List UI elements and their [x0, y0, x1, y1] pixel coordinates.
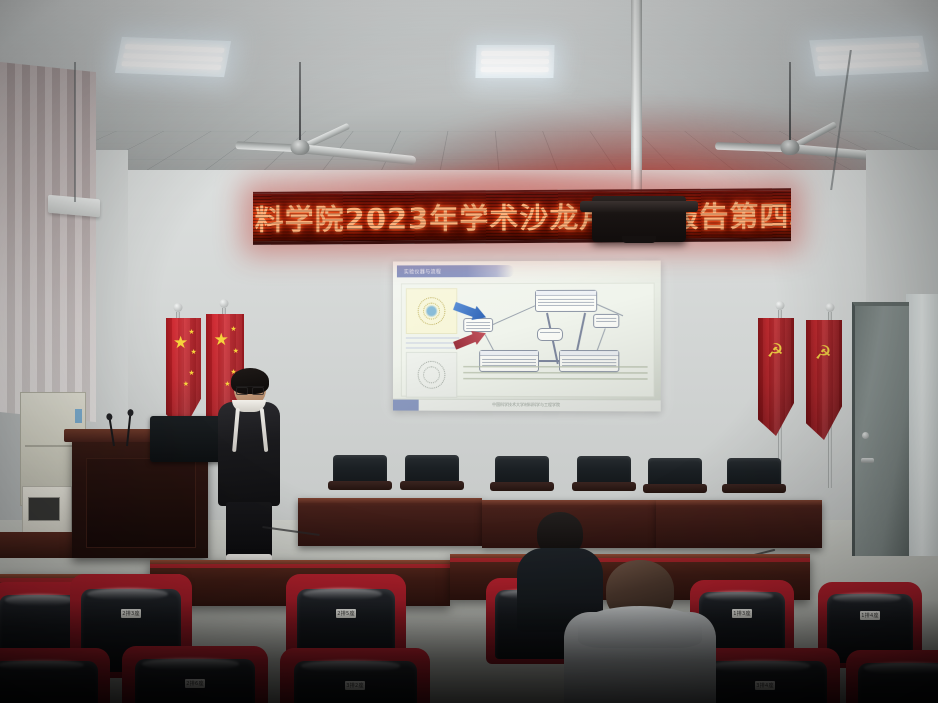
radial-diagram-yellow — [406, 288, 457, 334]
white-appliance — [22, 486, 72, 536]
fan-rod — [789, 62, 791, 142]
podium-monitor — [150, 416, 226, 462]
flag-star-small: ★ — [188, 370, 194, 377]
flag-star-small: ★ — [191, 349, 197, 356]
glasses-icon — [236, 386, 264, 393]
auditorium-seat[interactable]: 2排6座 — [122, 646, 268, 703]
seat-number-plate: 2排3座 — [121, 609, 141, 618]
dais-table — [298, 498, 482, 546]
exit-door[interactable] — [852, 302, 909, 556]
hammer-sickle-icon: ☭ — [815, 344, 837, 364]
slide-left-figures — [406, 288, 459, 366]
slide-body — [401, 283, 655, 398]
auditorium-seat[interactable] — [846, 650, 938, 703]
executive-chair — [577, 456, 631, 484]
flow-node — [463, 318, 493, 332]
seat-number-plate: 3排2座 — [345, 681, 365, 690]
flag-star-small: ★ — [224, 381, 230, 388]
seat-number-plate: 1排4座 — [860, 611, 880, 620]
cabinet-label — [75, 409, 82, 423]
slide-footer-text: 中国科学技术大学材料科学与工程学院 — [492, 402, 560, 408]
ceiling-projector — [592, 196, 686, 242]
flow-node-center — [537, 328, 563, 341]
presenter-torso — [218, 402, 280, 506]
ceiling-light-panel — [809, 36, 929, 77]
slide-title-text: 实验仪器与流程 — [404, 268, 441, 275]
podium-front-panel — [86, 458, 196, 548]
ceiling-light-panel — [475, 45, 554, 78]
fan-hub — [781, 140, 800, 155]
figure-caption — [406, 337, 459, 349]
executive-chair — [333, 455, 387, 483]
window-curtain — [0, 62, 96, 422]
flag-star-small: ★ — [233, 348, 239, 355]
seat-number-plate: 1排3座 — [732, 609, 752, 618]
executive-chair — [495, 456, 549, 484]
flow-edge — [539, 360, 561, 362]
seat-number-plate: 3排4座 — [755, 681, 775, 690]
ceiling-light-panel — [115, 37, 231, 77]
hammer-sickle-icon: ☭ — [767, 342, 789, 362]
hoodie-hood — [578, 606, 702, 648]
led-banner-text: 材料学院2023年学术沙龙月学术报告第四场 — [253, 193, 791, 239]
presenter-legs — [226, 502, 272, 558]
fan-hub — [291, 140, 310, 155]
fan-rod — [299, 62, 301, 142]
seat-number-plate: 2排6座 — [185, 679, 205, 688]
lecture-hall-photo: 材料学院2023年学术沙龙月学术报告第四场 实验仪器与流程 — [0, 0, 938, 703]
slide-footer: 中国科学技术大学材料科学与工程学院 — [393, 399, 661, 412]
flow-node — [535, 290, 597, 312]
door-handle[interactable] — [861, 458, 874, 463]
projector-mount-pole — [631, 0, 642, 200]
executive-chair — [727, 458, 781, 486]
flag-star-small: ★ — [230, 326, 236, 333]
flowchart — [463, 288, 649, 366]
led-banner: 材料学院2023年学术沙龙月学术报告第四场 — [253, 188, 791, 245]
executive-chair — [648, 458, 702, 486]
flag-star-small: ★ — [183, 381, 189, 388]
projection-screen: 实验仪器与流程 — [393, 261, 661, 412]
seat-number-plate: 2排5座 — [336, 609, 356, 618]
slide-title-bar: 实验仪器与流程 — [397, 265, 514, 277]
dais-table — [656, 500, 822, 548]
auditorium-seat[interactable] — [0, 648, 110, 703]
doorway-opening — [906, 294, 938, 556]
slide-note-text — [463, 366, 647, 382]
executive-chair — [405, 455, 459, 483]
auditorium-seat[interactable]: 3排2座 — [280, 648, 430, 703]
flag-star-small: ★ — [188, 329, 194, 336]
door-lock-icon — [862, 432, 869, 439]
flow-node — [593, 314, 619, 328]
hanging-wire — [74, 62, 76, 202]
flow-edge — [493, 305, 535, 325]
radial-diagram-gray — [406, 352, 457, 398]
